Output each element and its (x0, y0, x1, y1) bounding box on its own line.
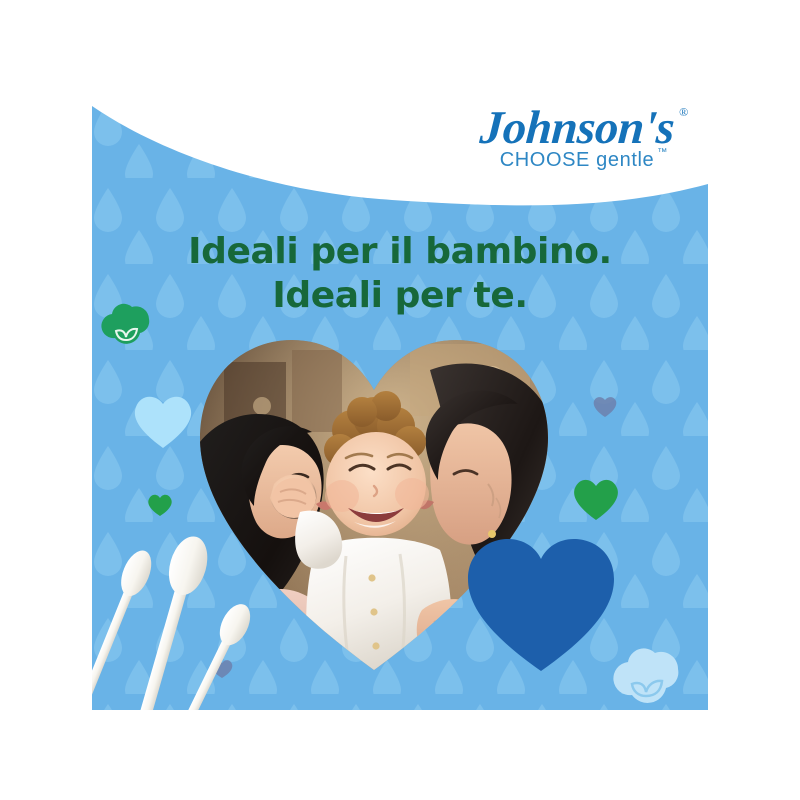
slate-heart-right-icon (592, 395, 618, 419)
trademark-icon: ™ (657, 147, 667, 158)
cotton-swabs (92, 512, 270, 710)
ad-panel: Johnson's ® CHOOSE gentle ™ Ideali per i… (92, 92, 708, 710)
cotton-swab-1 (92, 546, 157, 710)
light-blue-heart-icon (130, 390, 196, 452)
brand-tagline: CHOOSE gentle (500, 149, 655, 172)
light-cotton-cloud-icon (604, 640, 688, 710)
headline: Ideali per il bambino. Ideali per te. (92, 230, 708, 318)
big-blue-heart-icon (466, 535, 616, 675)
registered-trademark-icon: ® (680, 106, 689, 119)
headline-line-1: Ideali per il bambino. (92, 230, 708, 274)
cotton-swab-3 (179, 599, 257, 710)
brand-tagline-gentle: gentle (596, 149, 654, 171)
green-heart-right-icon (570, 475, 622, 523)
brand-wordmark-text: Johnson's (478, 102, 676, 154)
brand-logo: Johnson's ® CHOOSE gentle ™ (462, 104, 692, 172)
brand-wordmark: Johnson's ® (478, 104, 676, 153)
headline-line-2: Ideali per te. (92, 274, 708, 318)
brand-tagline-choose: CHOOSE (500, 149, 590, 171)
ad-canvas: Johnson's ® CHOOSE gentle ™ Ideali per i… (0, 0, 800, 800)
brand-tagline-wrap: CHOOSE gentle ™ (500, 149, 655, 172)
